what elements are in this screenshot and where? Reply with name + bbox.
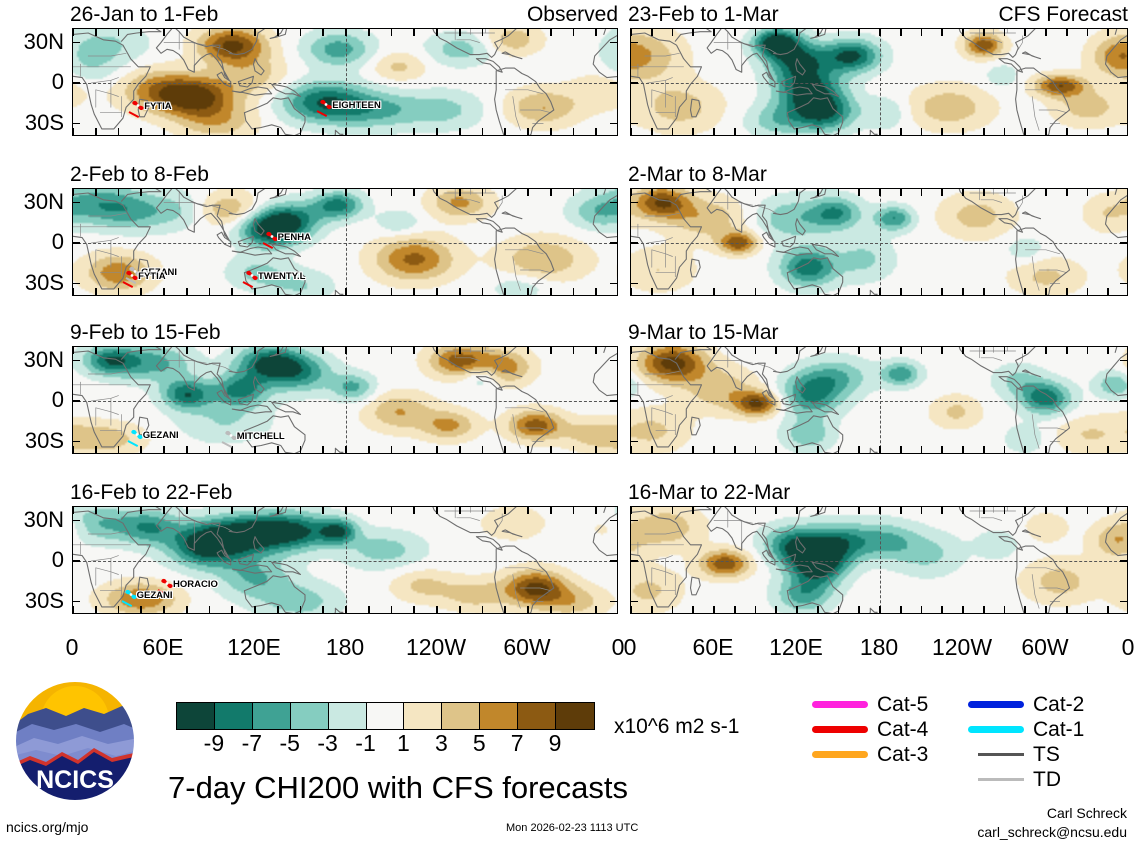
x-tick-fcst-3-210 [921,347,923,354]
panel-fcst-1: 23-Feb to 1-MarCFS Forecast [628,4,1128,142]
x-tick-obs-2-30 [118,189,120,196]
x-tick-obs-1-60 [163,128,165,135]
x-tick-fcst-2-150 [838,288,840,295]
x-tick-fcst-4-45 [692,507,694,514]
x-tick-obs-2-210 [391,288,393,295]
x-tick-fcst-2-285 [1024,189,1026,196]
x-tick-fcst-3-135 [817,446,819,453]
x-tick-obs-3-120 [254,347,256,354]
x-tick-fcst-2-195 [900,189,902,196]
x-tick-fcst-2-120 [796,288,798,295]
equator-guide-fcst-2 [631,243,1127,244]
y-tick-fcst-1-2 [1120,123,1127,125]
x-tick-fcst-3-165 [858,347,860,354]
x-tick-obs-4-255 [459,606,461,613]
x-tick-fcst-4-135 [817,507,819,514]
x-tick-fcst-1-120 [796,128,798,135]
x-tick-fcst-2-255 [983,189,985,196]
x-tick-fcst-4-105 [775,606,777,613]
dateline-guide-fcst-4 [880,507,881,613]
x-tick-obs-1-150 [300,29,302,36]
y-axis-label-30S: 30S [0,112,64,134]
legend-swatch-ts [978,753,1024,756]
x-tick-obs-2-135 [277,189,279,196]
x-tick-obs-1-105 [231,29,233,36]
x-tick-fcst-1-90 [755,128,757,135]
x-tick-fcst-3-345 [1107,347,1109,354]
x-tick-fcst-2-165 [858,288,860,295]
x-tick-fcst-1-210 [921,128,923,135]
x-tick-obs-2-270 [482,189,484,196]
x-tick-fcst-2-255 [983,288,985,295]
colorbar-cell-8 [480,703,518,729]
x-tick-fcst-3-75 [734,446,736,453]
x-tick-obs-1-30 [118,128,120,135]
y-tick-fcst-2-2 [631,283,638,285]
x-tick-fcst-2-60 [713,288,715,295]
column-header-forecast: CFS Forecast [998,4,1128,25]
x-tick-fcst-2-105 [775,288,777,295]
x-tick-obs-3-30 [118,347,120,354]
x-tick-fcst-1-60 [713,128,715,135]
x-tick-fcst-3-75 [734,347,736,354]
x-tick-obs-2-315 [550,288,552,295]
x-tick-obs-3-0 [72,347,74,354]
legend-label-cat-3: Cat-3 [877,744,928,765]
x-tick-fcst-2-15 [651,288,653,295]
x-tick-obs-3-30 [118,446,120,453]
y-axis-label-30S: 30S [0,590,64,612]
x-tick-obs-1-75 [186,29,188,36]
x-tick-fcst-1-105 [775,128,777,135]
x-tick-fcst-4-15 [651,606,653,613]
x-tick-obs-2-330 [573,189,575,196]
x-tick-fcst-2-315 [1066,288,1068,295]
x-tick-fcst-2-300 [1045,288,1047,295]
x-tick-obs-3-330 [573,347,575,354]
y-tick-fcst-4-2 [631,601,638,603]
y-tick-fcst-1-1 [631,82,638,84]
x-tick-obs-1-150 [300,128,302,135]
panel-fcst-4: 16-Mar to 22-Mar [628,482,1128,620]
x-tick-obs-2-255 [459,288,461,295]
x-tick-fcst-4-315 [1066,606,1068,613]
x-tick-obs-4-315 [550,507,552,514]
x-tick-obs-2-270 [482,288,484,295]
x-tick-fcst-1-90 [755,29,757,36]
x-tick-obs-1-165 [322,29,324,36]
x-axis-label-observed-4: 120W [406,636,466,659]
x-tick-fcst-4-180 [879,606,881,613]
x-tick-obs-1-120 [254,29,256,36]
legend-label-td: TD [1033,769,1061,790]
y-tick-fcst-2-1 [1120,242,1127,244]
x-tick-fcst-3-225 [941,347,943,354]
x-tick-obs-4-345 [595,507,597,514]
x-tick-obs-3-195 [368,446,370,453]
map-fcst-1 [630,28,1128,136]
x-tick-obs-1-345 [595,29,597,36]
x-tick-obs-2-225 [413,189,415,196]
x-tick-obs-2-45 [140,189,142,196]
x-tick-obs-4-135 [277,507,279,514]
x-tick-fcst-1-285 [1024,29,1026,36]
x-tick-fcst-3-180 [879,446,881,453]
x-tick-fcst-4-60 [713,606,715,613]
x-tick-obs-1-135 [277,29,279,36]
y-tick-obs-1-0 [610,42,617,44]
x-tick-obs-4-60 [163,507,165,514]
x-tick-obs-4-105 [231,507,233,514]
legend-row-cat-5: Cat-5 [812,692,928,717]
x-tick-fcst-1-180 [879,29,881,36]
x-tick-obs-3-210 [391,347,393,354]
x-tick-obs-3-300 [527,446,529,453]
y-tick-obs-2-0 [73,202,80,204]
cyclone-icon [245,268,259,285]
x-tick-obs-2-285 [504,288,506,295]
y-tick-obs-3-0 [73,360,80,362]
x-tick-fcst-4-210 [921,507,923,514]
x-tick-fcst-1-150 [838,29,840,36]
x-tick-obs-1-30 [118,29,120,36]
x-tick-obs-1-120 [254,128,256,135]
x-tick-obs-3-60 [163,446,165,453]
x-tick-obs-2-105 [231,189,233,196]
x-tick-fcst-1-300 [1045,128,1047,135]
map-obs-1: FYTIAEIGHTEEN [72,28,618,136]
x-tick-fcst-1-165 [858,29,860,36]
x-tick-obs-4-285 [504,507,506,514]
y-axis-label-30N: 30N [0,31,64,53]
x-tick-fcst-4-225 [941,606,943,613]
x-tick-fcst-3-285 [1024,347,1026,354]
x-tick-fcst-2-210 [921,288,923,295]
x-tick-fcst-1-60 [713,29,715,36]
x-tick-obs-4-90 [209,606,211,613]
colorbar-tick-7: 7 [511,732,524,755]
cyclone-icon [124,588,138,605]
x-tick-obs-1-210 [391,29,393,36]
x-tick-fcst-3-315 [1066,347,1068,354]
x-tick-obs-4-240 [436,606,438,613]
x-tick-obs-2-345 [595,288,597,295]
x-tick-obs-3-270 [482,446,484,453]
x-tick-obs-4-0 [72,507,74,514]
map-fcst-4 [630,506,1128,614]
x-tick-fcst-4-30 [672,606,674,613]
x-tick-obs-2-285 [504,189,506,196]
x-tick-fcst-1-75 [734,128,736,135]
x-tick-fcst-3-195 [900,347,902,354]
x-tick-fcst-3-135 [817,347,819,354]
x-tick-fcst-1-165 [858,128,860,135]
x-tick-fcst-3-15 [651,347,653,354]
x-tick-fcst-1-0 [630,128,632,135]
x-tick-obs-4-45 [140,507,142,514]
x-tick-obs-4-270 [482,507,484,514]
x-tick-fcst-1-135 [817,128,819,135]
colorbar-cell-1 [215,703,253,729]
x-tick-obs-1-45 [140,128,142,135]
legend-row-ts: TS [968,742,1084,767]
y-axis-label-30N: 30N [0,509,64,531]
storm-label: GEZANI [137,590,173,601]
x-tick-fcst-2-240 [962,288,964,295]
x-tick-fcst-2-45 [692,288,694,295]
legend-label-cat-2: Cat-2 [1033,694,1084,715]
x-tick-fcst-2-105 [775,189,777,196]
x-tick-fcst-2-90 [755,288,757,295]
dateline-guide-obs-2 [346,189,347,295]
x-tick-obs-1-60 [163,29,165,36]
x-tick-fcst-1-30 [672,29,674,36]
x-tick-fcst-3-270 [1004,347,1006,354]
x-tick-obs-2-315 [550,189,552,196]
equator-guide-obs-3 [73,401,617,402]
x-tick-obs-4-15 [95,606,97,613]
x-axis-label-observed-2: 120E [227,636,281,659]
x-tick-obs-3-45 [140,347,142,354]
y-axis-label-30N: 30N [0,349,64,371]
x-tick-fcst-4-45 [692,606,694,613]
x-tick-obs-4-330 [573,606,575,613]
x-tick-fcst-4-135 [817,606,819,613]
x-tick-obs-3-15 [95,446,97,453]
equator-guide-obs-4 [73,561,617,562]
x-tick-obs-2-180 [345,288,347,295]
x-tick-fcst-1-210 [921,29,923,36]
x-tick-fcst-4-75 [734,606,736,613]
storm-label: FYTIA [138,271,165,282]
map-fcst-3 [630,346,1128,454]
x-tick-obs-4-75 [186,606,188,613]
x-tick-obs-4-150 [300,606,302,613]
x-tick-obs-2-195 [368,288,370,295]
x-tick-fcst-1-75 [734,29,736,36]
colorbar-cell-10 [556,703,594,729]
legend-row-cat-3: Cat-3 [812,742,928,767]
x-tick-obs-4-180 [345,606,347,613]
x-tick-obs-2-150 [300,189,302,196]
colorbar-tick-5: 5 [473,732,486,755]
ncics-logo-text: NCICS [36,766,114,794]
x-tick-fcst-4-165 [858,606,860,613]
y-tick-obs-4-0 [73,520,80,522]
x-tick-obs-2-165 [322,189,324,196]
x-tick-obs-3-255 [459,446,461,453]
x-tick-obs-4-210 [391,606,393,613]
equator-guide-obs-2 [73,243,617,244]
x-tick-obs-2-240 [436,189,438,196]
map-obs-4: HORACIOGEZANI [72,506,618,614]
colorbar-tick--5: -5 [279,732,299,755]
x-tick-obs-4-60 [163,606,165,613]
x-tick-fcst-1-330 [1087,128,1089,135]
x-tick-obs-3-135 [277,446,279,453]
colorbar-cell-4 [329,703,367,729]
x-tick-fcst-4-315 [1066,507,1068,514]
x-tick-obs-2-345 [595,189,597,196]
x-tick-obs-2-105 [231,288,233,295]
x-tick-fcst-3-345 [1107,446,1109,453]
y-tick-fcst-4-0 [1120,520,1127,522]
y-tick-fcst-1-1 [1120,82,1127,84]
x-tick-obs-1-180 [345,128,347,135]
x-tick-fcst-3-15 [651,446,653,453]
y-tick-fcst-3-0 [631,360,638,362]
x-tick-obs-3-240 [436,446,438,453]
x-tick-fcst-3-315 [1066,446,1068,453]
colorbar-cell-3 [291,703,329,729]
cyclone-icon [265,229,279,246]
x-tick-fcst-2-0 [630,288,632,295]
x-tick-obs-3-105 [231,347,233,354]
legend-row-cat-1: Cat-1 [968,717,1084,742]
cyclone-icon [130,428,144,445]
x-tick-obs-2-300 [527,288,529,295]
y-axis-label-0: 0 [0,231,64,253]
y-tick-fcst-1-0 [1120,42,1127,44]
colorbar-cell-2 [253,703,291,729]
x-tick-fcst-3-0 [630,347,632,354]
colorbar [176,702,595,730]
x-tick-obs-2-60 [163,189,165,196]
y-tick-fcst-4-2 [1120,601,1127,603]
storm-label: TWENTY.L [258,271,306,282]
x-tick-fcst-1-240 [962,128,964,135]
y-tick-obs-2-2 [73,283,80,285]
x-tick-fcst-3-60 [713,347,715,354]
x-tick-fcst-2-270 [1004,189,1006,196]
x-tick-fcst-1-315 [1066,29,1068,36]
x-tick-obs-3-225 [413,446,415,453]
storm-label: PENHA [278,232,311,243]
x-tick-obs-4-120 [254,507,256,514]
colorbar-tick-9: 9 [549,732,562,755]
x-tick-obs-1-45 [140,29,142,36]
colorbar-units-label: x10^6 m2 s-1 [614,716,739,737]
x-tick-fcst-4-330 [1087,507,1089,514]
x-tick-obs-2-120 [254,189,256,196]
x-tick-fcst-1-30 [672,128,674,135]
x-tick-obs-4-90 [209,507,211,514]
x-tick-fcst-1-135 [817,29,819,36]
x-tick-fcst-2-0 [630,189,632,196]
x-tick-obs-3-345 [595,446,597,453]
x-axis-label-forecast-6: 0 [1122,636,1135,659]
panel-title-obs-1: 26-Jan to 1-Feb [70,4,218,25]
x-tick-obs-4-165 [322,606,324,613]
panel-title-fcst-4: 16-Mar to 22-Mar [628,482,790,503]
y-axis-label-30S: 30S [0,272,64,294]
x-tick-fcst-3-165 [858,446,860,453]
legend-row-td: TD [968,767,1084,792]
y-axis-label-30S: 30S [0,430,64,452]
x-tick-fcst-4-270 [1004,507,1006,514]
y-tick-fcst-2-2 [1120,283,1127,285]
x-tick-obs-3-210 [391,446,393,453]
x-tick-obs-1-255 [459,128,461,135]
x-tick-obs-2-75 [186,189,188,196]
ncics-logo: NCICS [12,678,138,804]
x-tick-obs-4-270 [482,606,484,613]
x-tick-obs-4-225 [413,606,415,613]
x-tick-fcst-3-150 [838,446,840,453]
x-axis-label-observed-1: 60E [143,636,184,659]
x-tick-fcst-1-315 [1066,128,1068,135]
x-tick-obs-4-225 [413,507,415,514]
x-tick-obs-3-285 [504,347,506,354]
x-tick-obs-4-180 [345,507,347,514]
x-tick-fcst-1-330 [1087,29,1089,36]
x-tick-fcst-4-195 [900,507,902,514]
x-tick-fcst-4-105 [775,507,777,514]
x-tick-fcst-3-210 [921,446,923,453]
x-tick-obs-4-135 [277,606,279,613]
y-tick-fcst-2-0 [1120,202,1127,204]
x-tick-fcst-2-225 [941,288,943,295]
x-tick-obs-1-315 [550,29,552,36]
storm-legend-left: Cat-5Cat-4Cat-3 [812,692,928,767]
legend-swatch-cat-2 [968,701,1024,708]
y-tick-fcst-2-0 [631,202,638,204]
x-tick-fcst-4-225 [941,507,943,514]
x-tick-fcst-2-30 [672,189,674,196]
x-tick-obs-3-330 [573,446,575,453]
x-tick-fcst-1-255 [983,128,985,135]
x-tick-fcst-4-120 [796,606,798,613]
equator-guide-fcst-4 [631,561,1127,562]
y-tick-fcst-4-1 [631,560,638,562]
x-tick-fcst-1-120 [796,29,798,36]
y-tick-fcst-2-1 [631,242,638,244]
storm-legend-right: Cat-2Cat-1TSTD [968,692,1084,792]
x-tick-fcst-4-255 [983,606,985,613]
legend-swatch-cat-3 [812,751,868,758]
x-tick-obs-2-330 [573,288,575,295]
x-tick-fcst-2-270 [1004,288,1006,295]
panel-fcst-3: 9-Mar to 15-Mar [628,322,1128,460]
x-tick-obs-3-120 [254,446,256,453]
x-tick-obs-1-270 [482,29,484,36]
colorbar-cell-0 [177,703,215,729]
y-tick-obs-1-0 [73,42,80,44]
x-tick-obs-1-285 [504,29,506,36]
x-tick-fcst-3-240 [962,347,964,354]
x-tick-fcst-3-120 [796,347,798,354]
x-tick-fcst-3-150 [838,347,840,354]
colorbar-cell-5 [367,703,405,729]
legend-label-cat-5: Cat-5 [877,694,928,715]
colorbar-cell-7 [442,703,480,729]
x-tick-fcst-3-270 [1004,446,1006,453]
cyclone-icon [319,97,333,114]
x-tick-fcst-4-285 [1024,507,1026,514]
x-tick-obs-2-195 [368,189,370,196]
x-tick-fcst-2-345 [1107,189,1109,196]
x-tick-fcst-1-195 [900,128,902,135]
x-tick-obs-1-300 [527,128,529,135]
cyclone-icon [224,429,238,446]
x-tick-obs-4-285 [504,606,506,613]
panel-title-fcst-3: 9-Mar to 15-Mar [628,322,779,343]
x-tick-obs-1-15 [95,128,97,135]
x-tick-obs-1-75 [186,128,188,135]
site-url-label: ncics.org/mjo [6,820,88,834]
y-tick-fcst-1-2 [631,123,638,125]
x-tick-obs-1-195 [368,128,370,135]
